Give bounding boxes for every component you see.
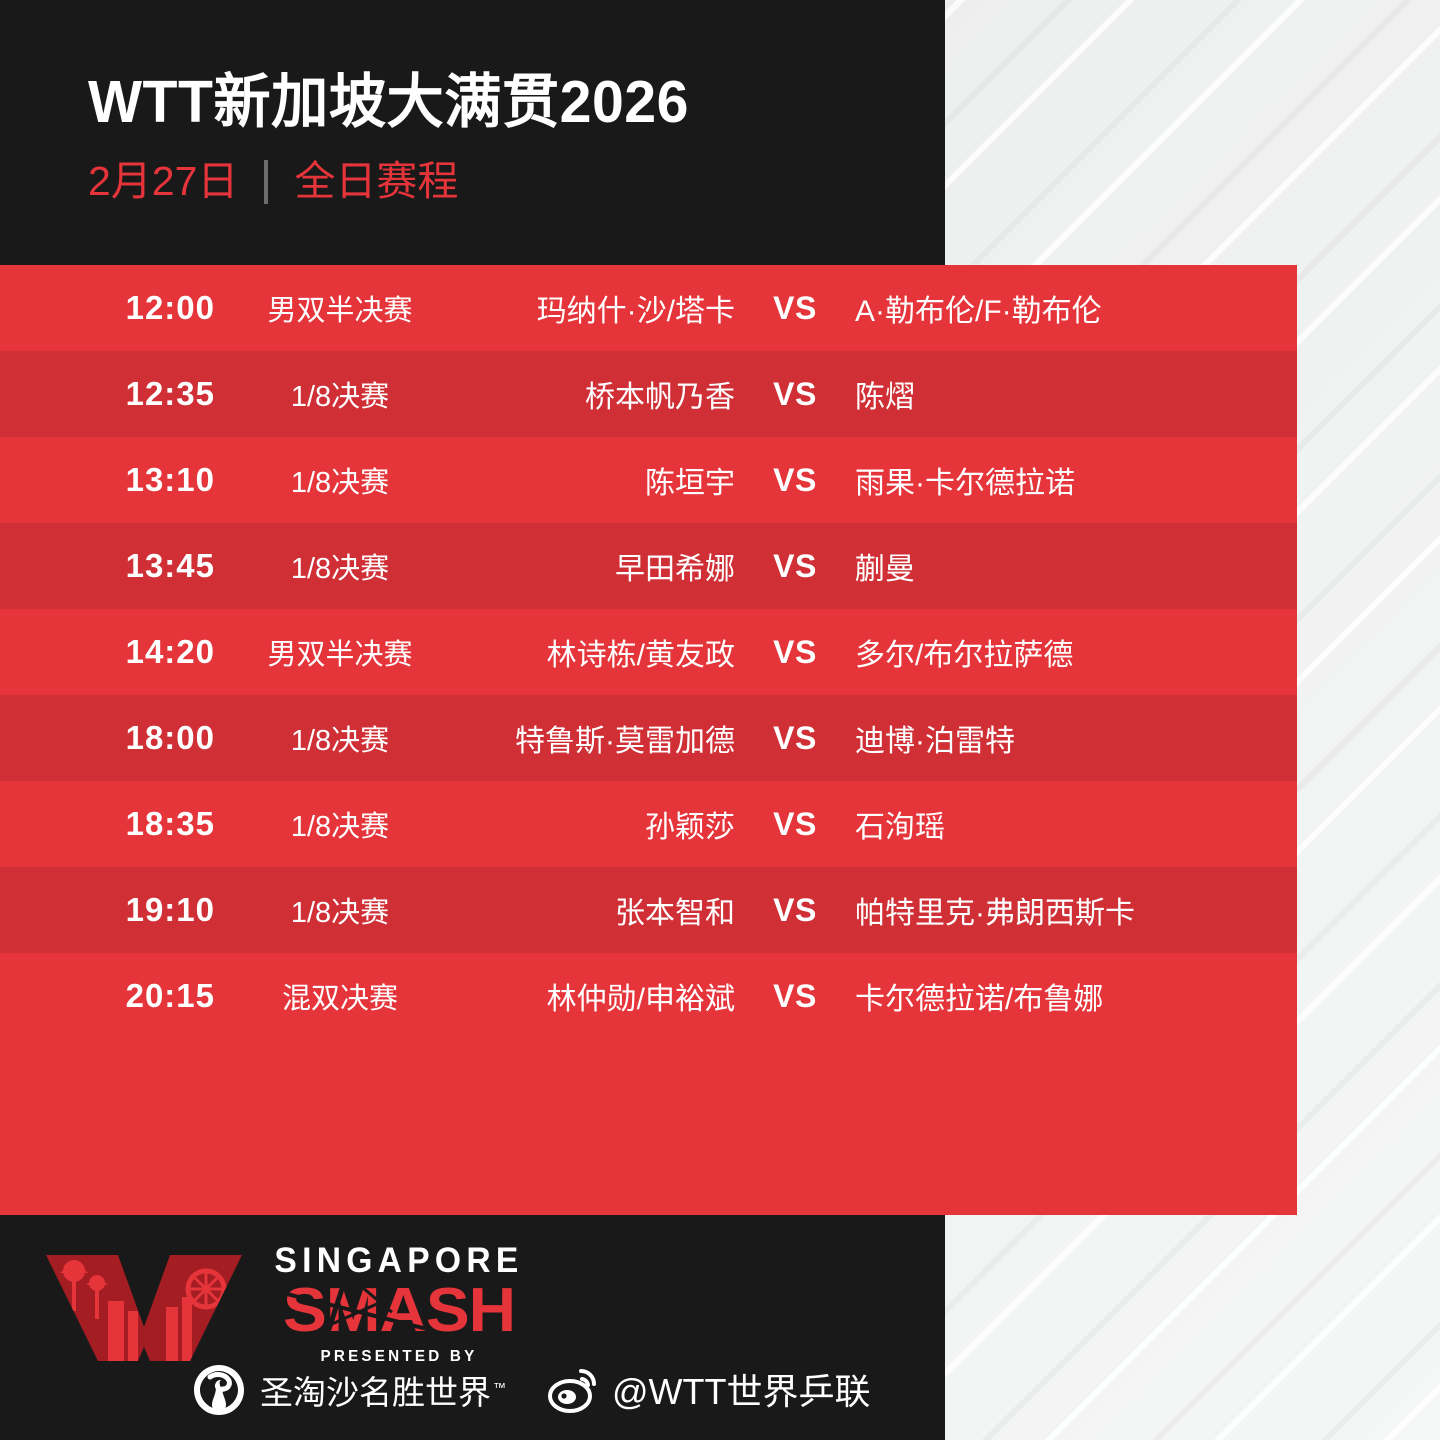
sponsor-name-text: 圣淘沙名胜世界 [260,1374,491,1411]
schedule-session: 全日赛程 [294,161,458,202]
schedule-table: 12:00男双半决赛玛纳什·沙/塔卡VSA·勒布伦/F·勒布伦12:351/8决… [0,265,1297,1215]
player-two: 多尔/布尔拉萨德 [855,630,1297,674]
trademark-symbol: ™ [493,1380,506,1395]
vs-label: VS [735,892,855,929]
player-one: 玛纳什·沙/塔卡 [460,286,735,330]
table-row: 20:15混双决赛林仲勋/申裕斌VS卡尔德拉诺/布鲁娜 [0,953,1297,1039]
match-time: 13:45 [0,547,215,585]
match-event-label: 1/8决赛 [245,803,435,845]
player-two: 蒯曼 [855,544,1297,588]
player-one: 孙颖莎 [460,802,735,846]
player-two: 卡尔德拉诺/布鲁娜 [855,974,1297,1018]
table-row: 18:351/8决赛孙颖莎VS石洵瑶 [0,781,1297,867]
match-event-label: 男双半决赛 [245,631,435,673]
weibo-handle[interactable]: @WTT世界乒联 [612,1363,871,1415]
match-time: 19:10 [0,891,215,929]
divider [264,160,268,204]
match-time: 18:35 [0,805,215,843]
player-one: 桥本帆乃香 [460,372,735,416]
sponsor-name: 圣淘沙名胜世界™ [260,1366,506,1414]
smash-label-wrap: SMASH [254,1280,544,1342]
schedule-date: 2月27日 [88,161,238,202]
weibo-icon[interactable] [548,1365,602,1413]
match-time: 12:00 [0,289,215,327]
match-event-label: 1/8决赛 [245,889,435,931]
match-time: 12:35 [0,375,215,413]
match-event-label: 混双决赛 [245,975,435,1017]
table-row: 12:351/8决赛桥本帆乃香VS陈熠 [0,351,1297,437]
match-event-label: 1/8决赛 [245,717,435,759]
vs-label: VS [735,462,855,499]
player-one: 林仲勋/申裕斌 [460,974,735,1018]
match-event-label: 1/8决赛 [245,373,435,415]
header-banner: WTT新加坡大满贯2026 2月27日 全日赛程 [0,0,945,265]
match-time: 14:20 [0,633,215,671]
player-two: 迪博·泊雷特 [855,716,1297,760]
vs-label: VS [735,978,855,1015]
table-row: 12:00男双半决赛玛纳什·沙/塔卡VSA·勒布伦/F·勒布伦 [0,265,1297,351]
vs-label: VS [735,634,855,671]
smash-wordmark: SINGAPORE SMASH PRESENTED BY [254,1233,544,1366]
table-row: 13:451/8决赛早田希娜VS蒯曼 [0,523,1297,609]
match-event-label: 1/8决赛 [245,459,435,501]
match-time: 13:10 [0,461,215,499]
player-one: 林诗栋/黄友政 [460,630,735,674]
match-event-label: 1/8决赛 [245,545,435,587]
vs-label: VS [735,806,855,843]
subtitle-row: 2月27日 全日赛程 [88,156,945,208]
player-two: A·勒布伦/F·勒布伦 [855,286,1297,330]
player-two: 石洵瑶 [855,802,1297,846]
player-one: 张本智和 [460,888,735,932]
wtt-w-skyline-icon [40,1249,248,1367]
match-time: 18:00 [0,719,215,757]
player-two: 帕特里克·弗朗西斯卡 [855,888,1297,932]
vs-label: VS [735,290,855,327]
player-two: 陈熠 [855,372,1297,416]
sponsor-rws: 圣淘沙名胜世界™ [192,1363,506,1417]
table-row: 18:001/8决赛特鲁斯·莫雷加德VS迪博·泊雷特 [0,695,1297,781]
vs-label: VS [735,548,855,585]
rws-logo-icon [192,1363,246,1417]
player-one: 特鲁斯·莫雷加德 [460,716,735,760]
social-weibo[interactable]: @WTT世界乒联 [548,1363,871,1415]
player-one: 陈垣宇 [460,458,735,502]
match-time: 20:15 [0,977,215,1015]
player-two: 雨果·卡尔德拉诺 [855,458,1297,502]
vs-label: VS [735,720,855,757]
smash-label: SMASH [245,1280,552,1342]
vs-label: VS [735,376,855,413]
table-row: 19:101/8决赛张本智和VS帕特里克·弗朗西斯卡 [0,867,1297,953]
footer-bar: SINGAPORE SMASH PRESENTED BY 圣淘沙名胜世界™ [0,1215,945,1440]
page-title: WTT新加坡大满贯2026 [88,72,919,134]
match-event-label: 男双半决赛 [245,287,435,329]
player-one: 早田希娜 [460,544,735,588]
singapore-smash-logo: SINGAPORE SMASH PRESENTED BY [40,1233,544,1367]
table-row: 14:20男双半决赛林诗栋/黄友政VS多尔/布尔拉萨德 [0,609,1297,695]
singapore-label: SINGAPORE [260,1243,538,1278]
table-row: 13:101/8决赛陈垣宇VS雨果·卡尔德拉诺 [0,437,1297,523]
